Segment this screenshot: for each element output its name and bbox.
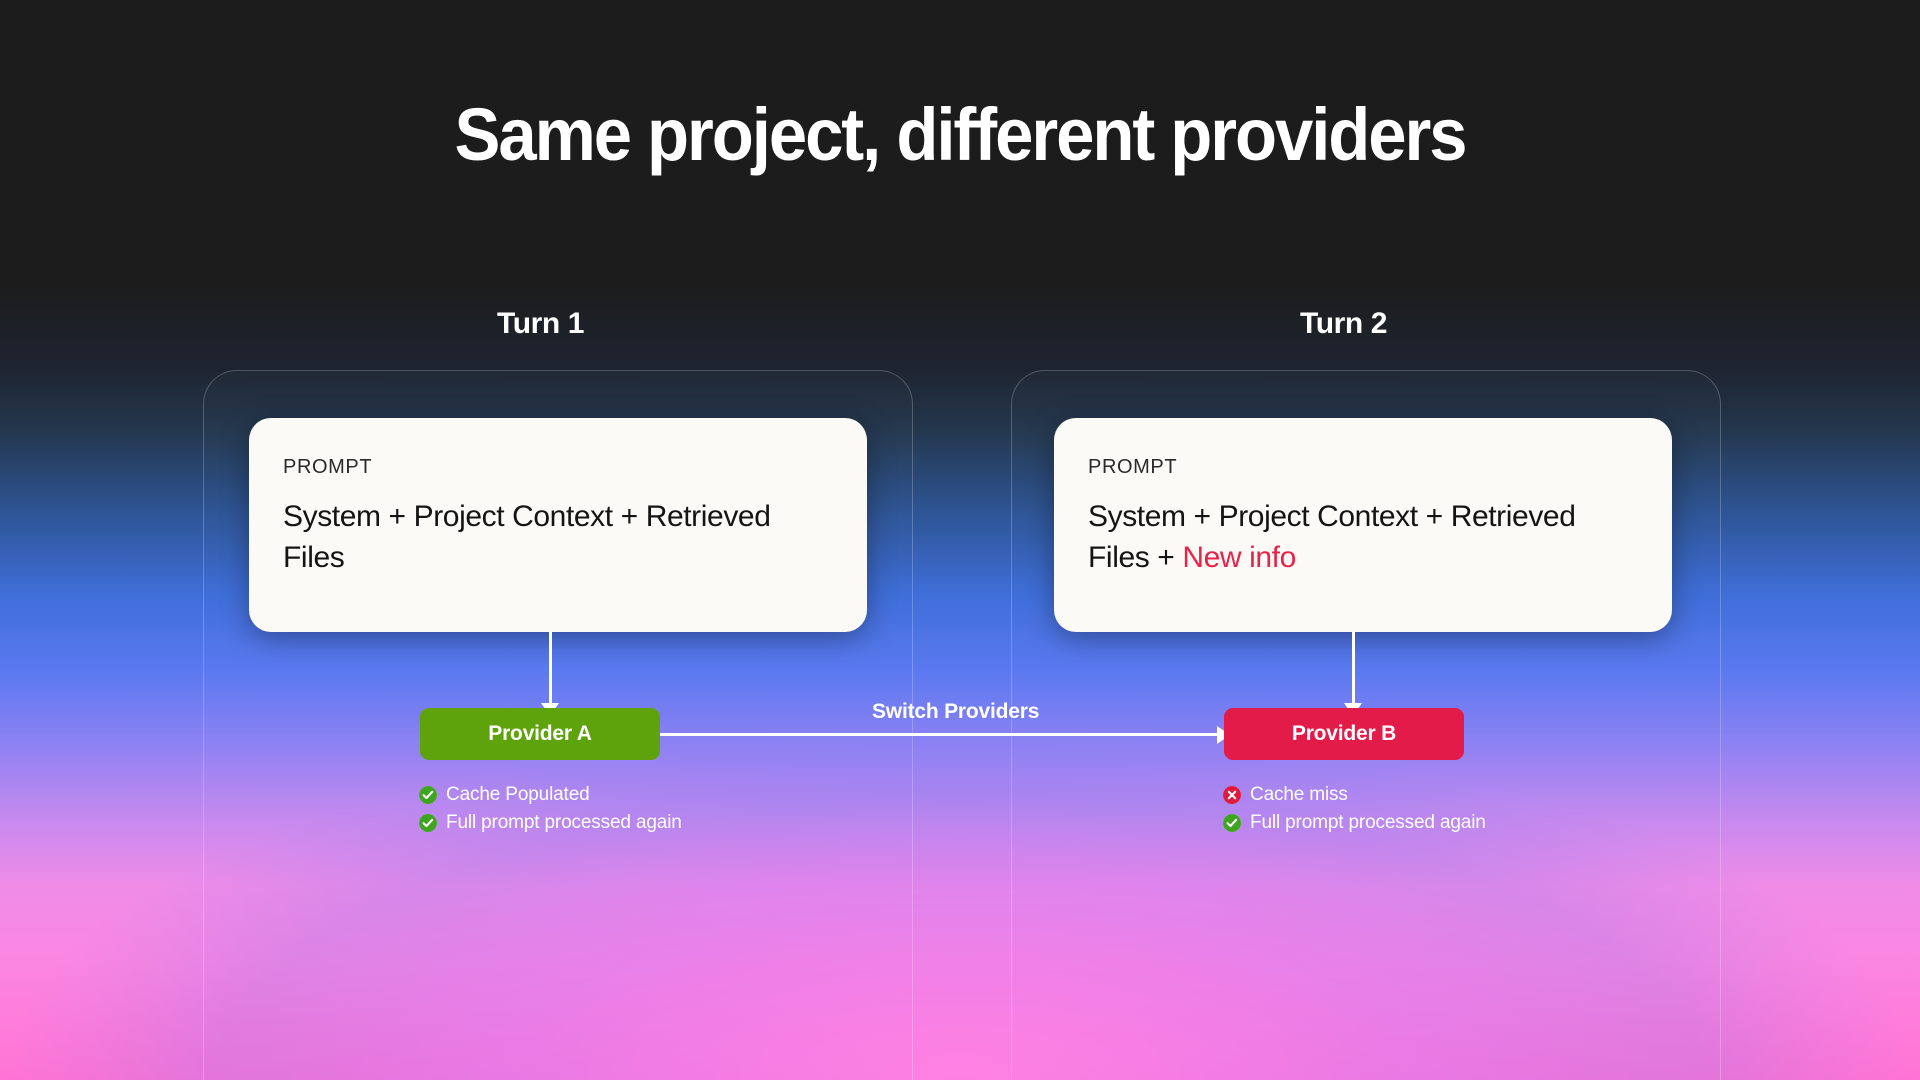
turn-2-prompt-body: System + Project Context + Retrieved Fil… xyxy=(1088,497,1638,578)
status-item: Cache Populated xyxy=(419,784,682,806)
turn-2-prompt-kicker: PROMPT xyxy=(1088,456,1638,479)
turn-2-status-list: Cache miss Full prompt processed again xyxy=(1223,784,1486,840)
status-item: Full prompt processed again xyxy=(1223,812,1486,834)
page-title: Same project, different providers xyxy=(67,92,1853,177)
status-item: Full prompt processed again xyxy=(419,812,682,834)
status-item: Cache miss xyxy=(1223,784,1486,806)
turn-1-label: Turn 1 xyxy=(497,307,584,341)
status-item-label: Full prompt processed again xyxy=(446,812,682,834)
turn-2-prompt-text-highlight: New info xyxy=(1182,541,1296,574)
turn-2-prompt-text-base: System + Project Context + Retrieved Fil… xyxy=(1088,500,1576,574)
provider-b-button[interactable]: Provider B xyxy=(1224,708,1464,760)
x-circle-icon xyxy=(1223,786,1241,804)
turn-1-status-list: Cache Populated Full prompt processed ag… xyxy=(419,784,682,840)
status-item-label: Cache miss xyxy=(1250,784,1348,806)
status-item-label: Cache Populated xyxy=(446,784,590,806)
provider-a-label: Provider A xyxy=(488,722,591,746)
turn-1-prompt-body: System + Project Context + Retrieved Fil… xyxy=(283,497,833,578)
turn-1-prompt-card: PROMPT System + Project Context + Retrie… xyxy=(249,418,867,632)
check-circle-icon xyxy=(419,786,437,804)
diagram-stage: Same project, different providers Turn 1… xyxy=(0,0,1920,1080)
turn-1-arrow-line xyxy=(549,632,552,708)
turn-2-label: Turn 2 xyxy=(1300,307,1387,341)
turn-1-prompt-text: System + Project Context + Retrieved Fil… xyxy=(283,500,771,574)
turn-1-prompt-kicker: PROMPT xyxy=(283,456,833,479)
provider-a-button[interactable]: Provider A xyxy=(420,708,660,760)
status-item-label: Full prompt processed again xyxy=(1250,812,1486,834)
turn-2-arrow-line xyxy=(1352,632,1355,708)
provider-b-label: Provider B xyxy=(1292,722,1396,746)
turn-2-prompt-card: PROMPT System + Project Context + Retrie… xyxy=(1054,418,1672,632)
check-circle-icon xyxy=(419,814,437,832)
check-circle-icon xyxy=(1223,814,1241,832)
